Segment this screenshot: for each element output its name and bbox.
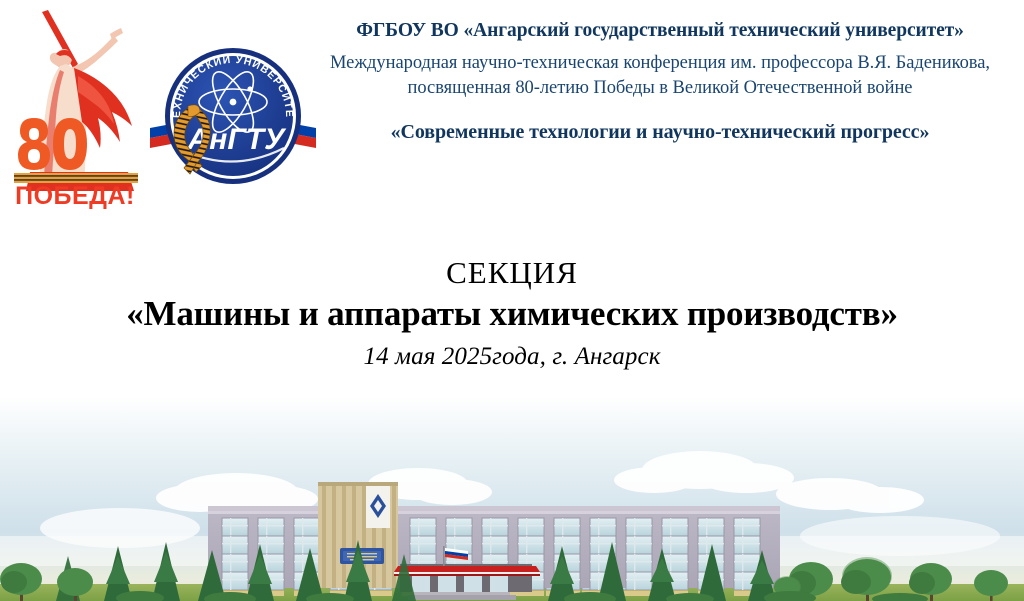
header-text-block: ФГБОУ ВО «Ангарский государственный техн… — [296, 18, 1024, 145]
conference-theme: «Современные технологии и научно-техниче… — [296, 119, 1024, 145]
conference-line-2: посвященная 80-летию Победы в Великой От… — [296, 76, 1024, 100]
section-title: «Машины и аппараты химических производст… — [0, 293, 1024, 334]
conference-title-slide: ПОБЕДА! — [0, 0, 1024, 601]
victory-80-logo: ПОБЕДА! — [4, 6, 146, 211]
section-date-place: 14 мая 2025года, г. Ангарск — [0, 343, 1024, 371]
victory-caption: ПОБЕДА! — [15, 182, 135, 210]
section-block: СЕКЦИЯ «Машины и аппараты химических про… — [0, 256, 1024, 371]
university-building-illustration — [0, 396, 1024, 601]
university-name: ФГБОУ ВО «Ангарский государственный техн… — [296, 18, 1024, 43]
entrance-canopy — [394, 566, 540, 572]
header-block: ПОБЕДА! — [0, 0, 1024, 225]
angtu-emblem-logo: ТЕХНИЧЕСКИЙ УНИВЕРСИТЕТ АнГТУ — [148, 22, 318, 200]
section-label: СЕКЦИЯ — [0, 256, 1024, 291]
conference-line-1: Международная научно-техническая конфере… — [296, 51, 1024, 75]
